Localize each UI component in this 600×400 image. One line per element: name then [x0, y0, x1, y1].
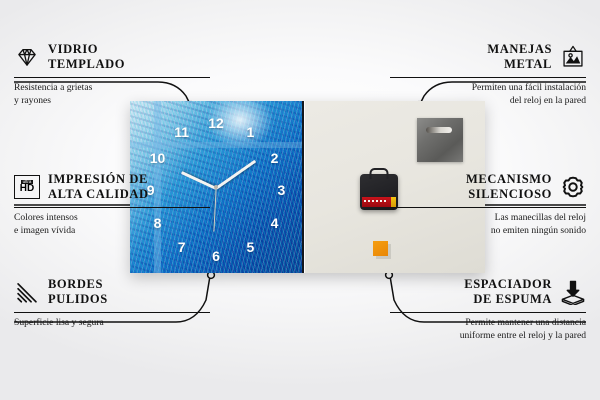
feature-description-text: Colores intensos e imagen vívida — [14, 212, 210, 238]
feature-title-line1: BORDES — [48, 277, 108, 292]
hanging-loop — [369, 168, 388, 179]
feature-description-text: Permite mantener una distancia uniforme … — [390, 317, 586, 343]
feature-description-text: Permiten una fácil instalación del reloj… — [390, 82, 586, 108]
feature-description: Superficie lisa y segura — [14, 317, 210, 330]
ultra-hd-icon-main: HD — [20, 184, 34, 195]
feature-rule — [390, 207, 586, 209]
feature-title: MANEJAS METAL — [487, 42, 552, 73]
feature-title-line2: DE ESPUMA — [464, 292, 552, 307]
feature-vidrio-templado: VIDRIO TEMPLADO Resistencia a grietas y … — [14, 42, 210, 108]
feature-title-line1: MECANISMO — [466, 172, 552, 187]
feature-rule — [390, 312, 586, 314]
feature-bordes-pulidos: BORDES PULIDOS Superficie lisa y segura — [14, 277, 210, 330]
diamond-icon — [14, 44, 40, 70]
metal-hanger-plate — [417, 118, 463, 162]
feature-title-line1: IMPRESIÓN DE — [48, 172, 149, 187]
feature-rule — [14, 312, 210, 314]
feature-description-text: Superficie lisa y segura — [14, 317, 210, 330]
feature-title: MECANISMO SILENCIOSO — [466, 172, 552, 203]
numeral-6: 6 — [212, 248, 220, 264]
feature-title-line2: ALTA CALIDAD — [48, 187, 149, 202]
feature-title-line2: PULIDOS — [48, 292, 108, 307]
hands-center-cap — [214, 185, 218, 189]
ultra-hd-icon: ultra HD — [14, 175, 40, 199]
feature-espaciador-espuma: ESPACIADOR DE ESPUMA Permite mantener un… — [390, 277, 586, 343]
foam-spacer-arrow-icon — [560, 279, 586, 305]
feature-rule — [390, 77, 586, 79]
feature-title-line2: TEMPLADO — [48, 57, 125, 72]
feature-description: Las manecillas del reloj no emiten ningú… — [390, 212, 586, 238]
feature-mecanismo-silencioso: MECANISMO SILENCIOSO Las manecillas del … — [390, 172, 586, 238]
feature-title: IMPRESIÓN DE ALTA CALIDAD — [48, 172, 149, 203]
infographic-canvas: 12 1 2 3 4 5 6 7 8 9 10 11 — [0, 0, 600, 400]
foam-spacer — [373, 241, 388, 256]
feature-description: Resistencia a grietas y rayones — [14, 82, 210, 108]
numeral-3: 3 — [277, 182, 285, 198]
feature-title-line1: ESPACIADOR — [464, 277, 552, 292]
feature-title-line1: VIDRIO — [48, 42, 125, 57]
feature-impresion-alta-calidad: ultra HD IMPRESIÓN DE ALTA CALIDAD Color… — [14, 172, 210, 238]
feature-title: ESPACIADOR DE ESPUMA — [464, 277, 552, 308]
feature-description-text: Las manecillas del reloj no emiten ningú… — [390, 212, 586, 238]
feature-title-line2: SILENCIOSO — [466, 187, 552, 202]
feature-title: BORDES PULIDOS — [48, 277, 108, 308]
feature-title: VIDRIO TEMPLADO — [48, 42, 125, 73]
polished-edge-icon — [14, 279, 40, 305]
feature-description-text: Resistencia a grietas y rayones — [14, 82, 210, 108]
numeral-10: 10 — [150, 150, 166, 166]
feature-manejas-metal: MANEJAS METAL Permiten una fácil instala… — [390, 42, 586, 108]
numeral-5: 5 — [246, 239, 254, 255]
feature-description: Permite mantener una distancia uniforme … — [390, 317, 586, 343]
gear-icon — [560, 174, 586, 200]
numeral-2: 2 — [271, 150, 279, 166]
numeral-12: 12 — [208, 115, 224, 131]
feature-description: Permiten una fácil instalación del reloj… — [390, 82, 586, 108]
wall-hanging-frame-icon — [560, 44, 586, 70]
feature-title-line1: MANEJAS — [487, 42, 552, 57]
feature-rule — [14, 207, 210, 209]
feature-title-line2: METAL — [487, 57, 552, 72]
feature-description: Colores intensos e imagen vívida — [14, 212, 210, 238]
movement-label — [362, 197, 392, 207]
feature-rule — [14, 77, 210, 79]
numeral-4: 4 — [271, 215, 279, 231]
numeral-11: 11 — [174, 124, 189, 140]
numeral-1: 1 — [246, 124, 254, 140]
numeral-7: 7 — [178, 239, 186, 255]
